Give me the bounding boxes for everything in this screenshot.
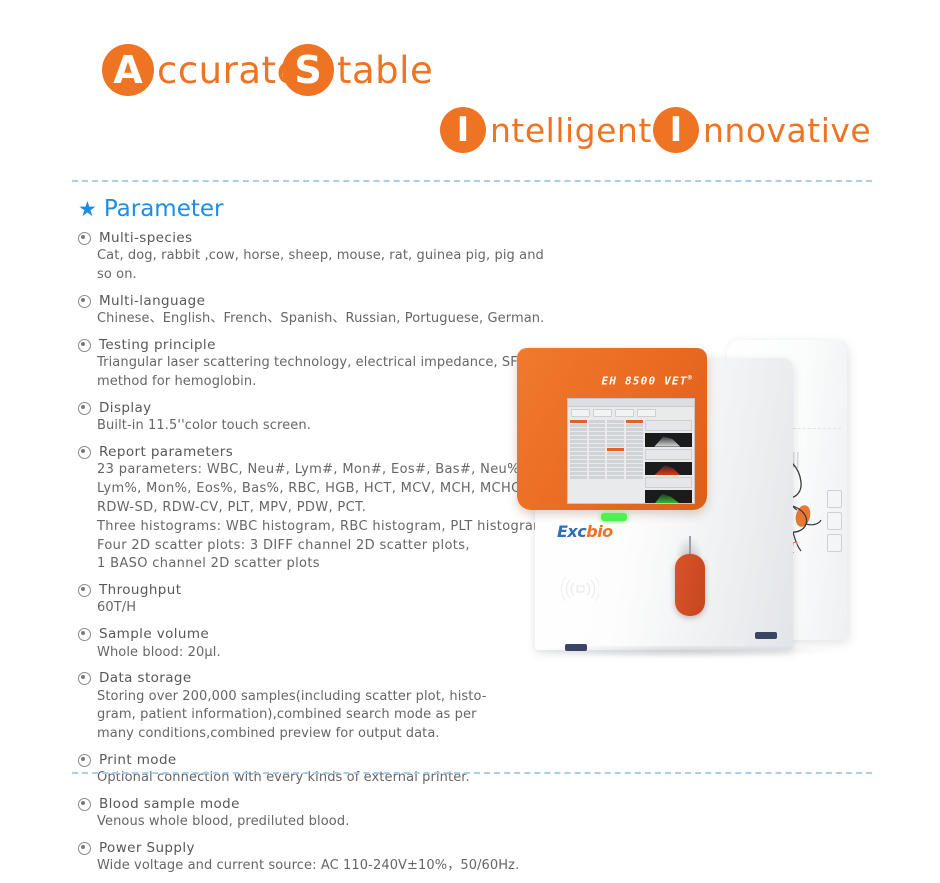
parameter-title-row: Multi-language (78, 292, 548, 310)
parameter-title: Report parameters (99, 443, 233, 461)
bullet-icon (78, 798, 91, 811)
registered-trademark-icon: ® (688, 374, 693, 382)
slogan-intelligent: I ntelligent (440, 107, 652, 153)
parameter-item: Blood sample mode Venous whole blood, pr… (78, 795, 548, 832)
divider-top (72, 180, 872, 182)
slogan-accurate: A ccurate (102, 44, 300, 96)
bullet-icon (78, 232, 91, 245)
parameter-title: Print mode (99, 751, 177, 769)
parameter-item: Throughput 60T/H (78, 581, 548, 618)
parameter-desc: Built-in 11.5''color touch screen. (97, 417, 548, 436)
slogan-innovative-text: nnovative (703, 111, 871, 150)
device-model-text: EH 8500 VET (602, 375, 688, 388)
parameter-title-row: Sample volume (78, 625, 548, 643)
screen-tab (615, 409, 634, 417)
bullet-icon (78, 628, 91, 641)
slogan-stable-badge-icon: S (282, 44, 334, 96)
parameter-desc: Storing over 200,000 samples(including s… (97, 688, 548, 745)
bullet-icon (78, 672, 91, 685)
parameter-title-row: Report parameters (78, 443, 548, 461)
bullet-icon (78, 754, 91, 767)
parameter-title-row: Blood sample mode (78, 795, 548, 813)
parameter-item: Multi-species Cat, dog, rabbit ,cow, hor… (78, 229, 548, 285)
slogan-intelligent-text: ntelligent (490, 111, 652, 150)
parameter-item: Multi-language Chinese、English、French、Sp… (78, 292, 548, 329)
rbc-message-box (645, 449, 692, 460)
device-foot (565, 644, 587, 651)
divider-bottom (72, 772, 872, 774)
star-icon: ★ (78, 199, 97, 220)
screen-side-panel (645, 420, 692, 504)
parameter-title: Testing principle (99, 336, 216, 354)
device-touch-screen[interactable] (567, 398, 695, 504)
parameter-title-row: Data storage (78, 669, 548, 687)
plt-message-box (645, 477, 692, 488)
slogan-banner: A ccurate S table I ntelligent I nnovati… (0, 0, 940, 172)
parameter-desc: Chinese、English、French、Spanish、Russian, … (97, 310, 548, 329)
slogan-intelligent-badge-icon: I (440, 107, 486, 153)
parameter-desc: Venous whole blood, prediluted blood. (97, 813, 548, 832)
slogan-innovative: I nnovative (653, 107, 871, 153)
parameter-title-row: Multi-species (78, 229, 548, 247)
parameter-title: Power Supply (99, 839, 195, 857)
slogan-stable: S table (282, 44, 433, 96)
parameter-desc: 60T/H (97, 599, 548, 618)
bullet-icon (78, 446, 91, 459)
parameter-title: Blood sample mode (99, 795, 240, 813)
screen-titlebar (568, 399, 694, 407)
parameter-desc: Wide voltage and current source: AC 110-… (97, 857, 548, 876)
rbc-histogram-icon (645, 462, 692, 476)
slogan-innovative-badge-icon: I (653, 107, 699, 153)
screen-tab (571, 409, 590, 417)
parameter-section: ★ Parameter Multi-species Cat, dog, rabb… (78, 196, 548, 883)
bullet-icon (78, 584, 91, 597)
slogan-stable-text: table (337, 49, 433, 92)
bullet-icon (78, 339, 91, 352)
parameter-item: Display Built-in 11.5''color touch scree… (78, 399, 548, 436)
parameter-title: Display (99, 399, 152, 417)
status-led-indicator (601, 513, 627, 521)
parameter-title: Data storage (99, 669, 192, 687)
parameter-desc: Cat, dog, rabbit ,cow, horse, sheep, mou… (97, 247, 548, 285)
parameter-item: Testing principle Triangular laser scatt… (78, 336, 548, 392)
parameter-desc: Triangular laser scattering technology, … (97, 354, 548, 392)
wbc-message-box (645, 420, 692, 431)
parameter-title-row: Print mode (78, 751, 548, 769)
bullet-icon (78, 842, 91, 855)
screen-content (568, 419, 694, 504)
wbc-histogram-icon (645, 433, 692, 447)
parameter-title: Sample volume (99, 625, 209, 643)
parameter-title-row: Power Supply (78, 839, 548, 857)
parameter-title-row: Throughput (78, 581, 548, 599)
parameter-title: Multi-species (99, 229, 193, 247)
screen-tab (637, 409, 656, 417)
device-monitor-head: EH 8500 VET® (517, 348, 707, 510)
screen-tab (593, 409, 612, 417)
page-title-label: Parameter (104, 196, 224, 222)
bullet-icon (78, 295, 91, 308)
plt-histogram-icon (645, 490, 692, 504)
rfid-icon (561, 574, 599, 604)
parameter-title: Throughput (99, 581, 181, 599)
parameter-title-row: Display (78, 399, 548, 417)
parameter-item: Power Supply Wide voltage and current so… (78, 839, 548, 876)
parameter-item: Report parameters 23 parameters: WBC, Ne… (78, 443, 548, 574)
parameter-desc: Whole blood: 20μl. (97, 644, 548, 663)
device-model-label: EH 8500 VET® (602, 374, 693, 388)
page-title: ★ Parameter (78, 196, 548, 222)
slogan-accurate-badge-icon: A (102, 44, 154, 96)
product-image-hematology-analyzer: VET EH 8500 VET® (505, 330, 905, 660)
slogan-accurate-text: ccurate (157, 49, 300, 92)
brand-logo: Excbio (557, 522, 613, 541)
parameter-item: Sample volume Whole blood: 20μl. (78, 625, 548, 662)
sample-probe-panel[interactable] (675, 554, 705, 616)
parameter-item: Print mode Optional connection with ever… (78, 751, 548, 788)
brand-logo-first: Exc (557, 522, 586, 541)
parameter-desc: 23 parameters: WBC, Neu#, Lym#, Mon#, Eo… (97, 461, 548, 574)
parameter-title-row: Testing principle (78, 336, 548, 354)
screen-tab-bar (568, 407, 694, 419)
parameter-title: Multi-language (99, 292, 205, 310)
bullet-icon (78, 402, 91, 415)
parameter-item: Data storage Storing over 200,000 sample… (78, 669, 548, 744)
device-foot (755, 632, 777, 639)
brand-logo-second: bio (586, 522, 612, 541)
screen-results-table (570, 420, 643, 504)
